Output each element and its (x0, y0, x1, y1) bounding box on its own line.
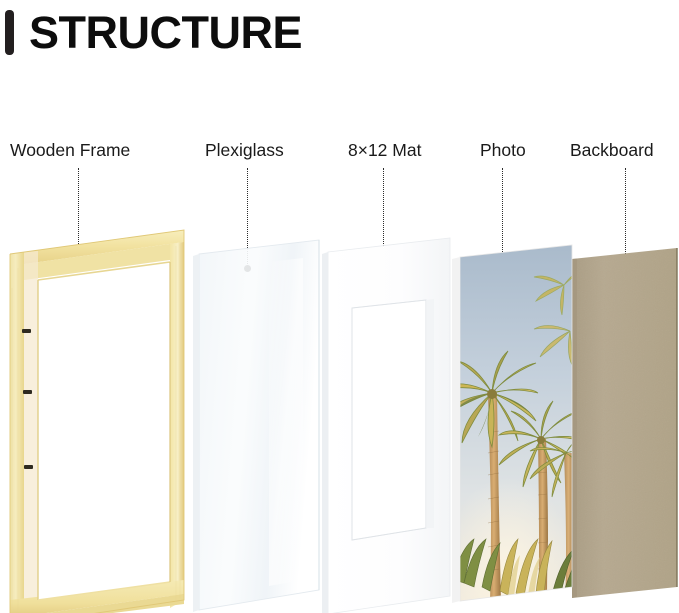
layer-mat (322, 236, 457, 613)
title-accent-bar (5, 10, 14, 55)
layer-plexiglass (193, 238, 325, 613)
label-photo: Photo (480, 142, 526, 160)
page-title-text: STRUCTURE (29, 10, 302, 55)
label-mat: 8×12 Mat (348, 142, 421, 160)
structure-diagram-page: STRUCTURE Wooden Frame Plexiglass 8×12 M… (0, 0, 679, 613)
label-backboard: Backboard (570, 142, 654, 160)
frame-clip-mark (23, 390, 32, 394)
label-plexiglass: Plexiglass (205, 142, 284, 160)
frame-clip-mark (22, 329, 31, 333)
page-title: STRUCTURE (0, 6, 302, 58)
frame-clip-mark (24, 465, 33, 469)
layer-photo (452, 243, 577, 603)
label-wooden-frame: Wooden Frame (10, 142, 130, 160)
layer-wooden-frame (8, 228, 196, 613)
layer-backboard (570, 246, 679, 598)
